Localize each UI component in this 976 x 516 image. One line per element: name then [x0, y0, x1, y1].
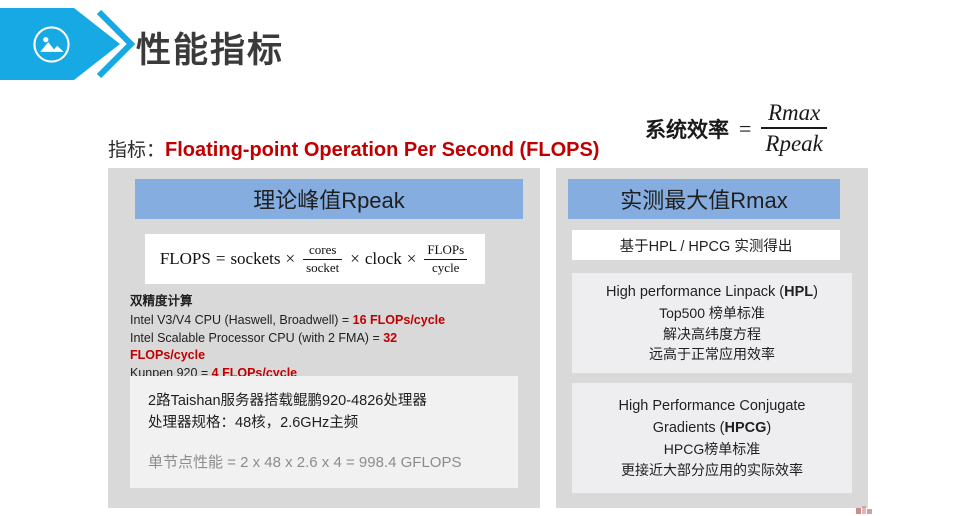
benchmark-card-hpcg: High Performance Conjugate Gradients (HP… [572, 383, 852, 493]
formula-op-2: × [350, 249, 360, 269]
formula-fraction-flops-cycle: FLOPs cycle [424, 243, 467, 275]
benchmark-hpl-name-tail: ) [813, 284, 818, 300]
double-precision-title: 双精度计算 [130, 293, 520, 311]
flops-formula: FLOPS = sockets × cores socket × clock ×… [160, 243, 470, 275]
flops-formula-box: FLOPS = sockets × cores socket × clock ×… [145, 234, 485, 284]
precision-line-2-value: 32 [383, 331, 397, 345]
double-precision-block: 双精度计算 Intel V3/V4 CPU (Haswell, Broadwel… [130, 293, 520, 383]
benchmark-hpcg-name-tail: ) [766, 420, 771, 436]
node-performance-result: 单节点性能 = 2 x 48 x 2.6 x 4 = 998.4 GFLOPS [148, 451, 500, 472]
formula-op-1: × [285, 249, 295, 269]
benchmark-hpcg-name-plain-2: Gradients ( [653, 420, 725, 436]
benchmark-hpl-name: High performance Linpack (HPL) [606, 282, 818, 304]
benchmark-hpl-line-3: 远高于正常应用效率 [649, 344, 775, 364]
formula-fraction-2-denominator: cycle [429, 260, 462, 276]
precision-line-intel-scalable: Intel Scalable Processor CPU (with 2 FMA… [130, 330, 520, 348]
node-spec-line-1: 2路Taishan服务器搭载鲲鹏920-4826处理器 [148, 390, 500, 412]
benchmark-hpcg-line-1: HPCG榜单标准 [664, 439, 760, 459]
panel-rpeak-header: 理论峰值Rpeak [135, 179, 523, 219]
formula-term-clock: clock [365, 249, 402, 269]
benchmark-hpl-line-2: 解决高纬度方程 [663, 324, 761, 344]
formula-fraction-1-numerator: cores [306, 243, 339, 259]
picture-icon [32, 25, 71, 64]
benchmark-hpcg-name-line-1: High Performance Conjugate [619, 396, 806, 418]
page-title: 性能指标 [136, 22, 284, 73]
benchmark-card-hpl: High performance Linpack (HPL) Top500 榜单… [572, 273, 852, 373]
node-spec-box: 2路Taishan服务器搭载鲲鹏920-4826处理器 处理器规格：48核，2.… [130, 376, 518, 488]
formula-fraction-cores-socket: cores socket [303, 243, 342, 275]
precision-line-1-text: Intel V3/V4 CPU (Haswell, Broadwell) = [130, 313, 353, 327]
benchmark-hpl-line-1: Top500 榜单标准 [659, 303, 765, 323]
efficiency-fraction: Rmax Rpeak [761, 100, 826, 158]
metric-headline-term: Floating-point Operation Per Second (FLO… [165, 139, 599, 161]
benchmark-hpcg-line-2: 更接近大部分应用的实际效率 [621, 460, 803, 480]
efficiency-numerator: Rmax [764, 100, 824, 127]
benchmark-hpcg-acronym: HPCG [724, 420, 766, 436]
benchmark-hpl-acronym: HPL [784, 284, 813, 300]
bottom-watermark [856, 505, 872, 514]
formula-fraction-1-denominator: socket [303, 260, 342, 276]
metric-headline-prefix: 指标： [108, 140, 165, 161]
measurement-source-box: 基于HPL / HPCG 实测得出 [572, 230, 840, 260]
header-banner: 性能指标 [0, 0, 976, 86]
precision-line-1-value: 16 FLOPs/cycle [353, 313, 445, 327]
benchmark-hpl-name-plain: High performance Linpack ( [606, 284, 784, 300]
formula-term-sockets: sockets [230, 249, 280, 269]
chevron-right-icon [93, 8, 135, 80]
formula-equals: = [216, 249, 226, 269]
formula-fraction-2-numerator: FLOPs [424, 243, 467, 259]
efficiency-formula: 系统效率 = Rmax Rpeak [645, 100, 827, 158]
efficiency-denominator: Rpeak [761, 129, 826, 157]
formula-op-3: × [407, 249, 417, 269]
metric-headline: 指标：Floating-point Operation Per Second (… [108, 135, 599, 162]
efficiency-equals-sign: = [739, 116, 751, 142]
efficiency-label: 系统效率 [645, 114, 729, 144]
panel-rmax-header: 实测最大值Rmax [568, 179, 840, 219]
precision-line-2-value-cont: FLOPs/cycle [130, 347, 520, 365]
node-spec-line-2: 处理器规格：48核，2.6GHz主频 [148, 412, 500, 434]
panel-rpeak: 理论峰值Rpeak FLOPS = sockets × cores socket… [108, 168, 540, 508]
formula-lhs: FLOPS [160, 249, 211, 269]
precision-line-intel-v3v4: Intel V3/V4 CPU (Haswell, Broadwell) = 1… [130, 312, 520, 330]
benchmark-hpcg-name-line-2: Gradients (HPCG) [653, 418, 771, 440]
panel-rmax: 实测最大值Rmax 基于HPL / HPCG 实测得出 High perform… [556, 168, 868, 508]
precision-line-2-text: Intel Scalable Processor CPU (with 2 FMA… [130, 331, 383, 345]
